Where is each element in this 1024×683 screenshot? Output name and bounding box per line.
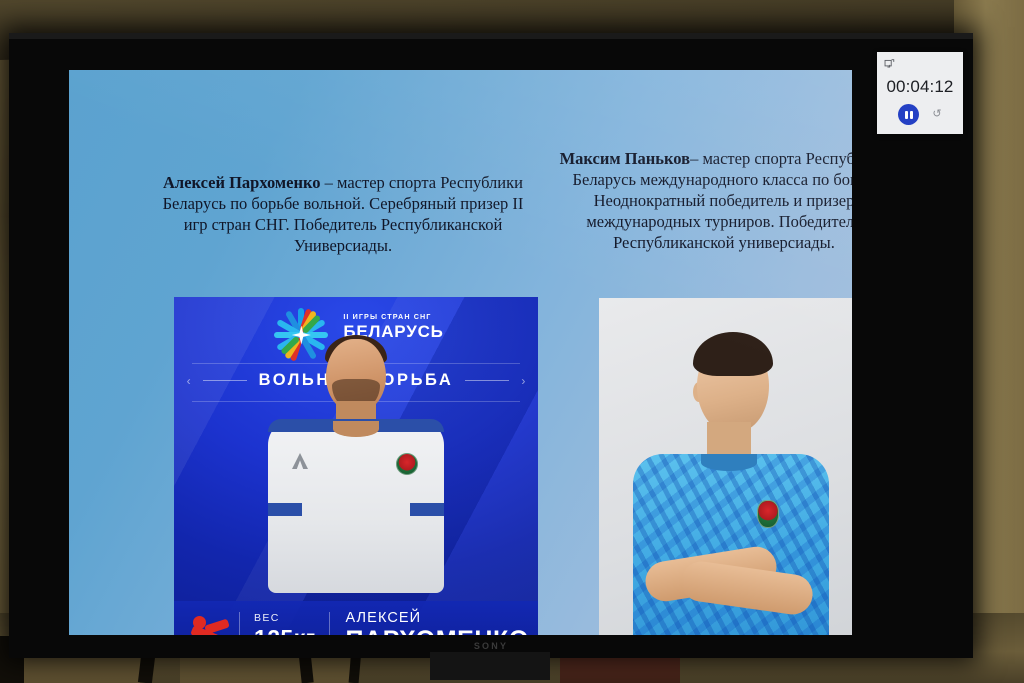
athlete-sleeve-left: [268, 503, 302, 516]
athlete-last-name: ПАРХОМЕНКО: [345, 627, 528, 635]
athlete-card-left[interactable]: II ИГРЫ СТРАН СНГ БЕЛАРУСЬ 2023 ‹ ВОЛЬНА…: [174, 297, 538, 635]
caption-right: Максим Паньков– мастер спорта Республики…: [559, 149, 852, 254]
pause-icon-bar-left: [905, 111, 908, 119]
screen-capture-icon[interactable]: [884, 58, 895, 69]
under-object-red: [560, 655, 680, 683]
pause-icon-bar-right: [910, 111, 913, 119]
tv-bezel-top: [9, 33, 973, 39]
weight-label: ВЕС: [254, 612, 315, 624]
athlete-sleeve-right: [410, 503, 444, 516]
portrait-shirt-collar: [701, 454, 757, 471]
athlete-first-name: АЛЕКСЕЙ: [345, 611, 528, 626]
athlete-weight: ВЕС 125кг: [240, 612, 329, 635]
presentation-slide[interactable]: Алексей Пархоменко – мастер спорта Респу…: [69, 70, 852, 635]
caption-left: Алексей Пархоменко – мастер спорта Респу…: [157, 173, 529, 257]
athlete-photo-left: [174, 335, 538, 603]
games-logo-kicker: II ИГРЫ СТРАН СНГ: [343, 313, 443, 320]
athlete-jersey-neckline: [333, 421, 379, 437]
timer-value: 00:04:12: [877, 77, 963, 97]
athlete-portrait-right[interactable]: [599, 298, 852, 635]
timer-widget[interactable]: 00:04:12 ↺: [877, 52, 963, 134]
timer-controls: ↺: [877, 104, 963, 125]
athlete-name: АЛЕКСЕЙ ПАРХОМЕНКО: [330, 611, 528, 635]
tv-stand-neck: [430, 652, 550, 680]
reset-icon[interactable]: ↺: [932, 109, 941, 120]
screenshot-stage: SONY Алексей Пархоменко – мастер спорта …: [0, 0, 1024, 683]
tv-brand-logo: SONY: [474, 641, 508, 651]
wrestling-pictogram-icon: [183, 610, 239, 635]
pause-button[interactable]: [898, 104, 919, 125]
portrait-hair: [693, 332, 773, 376]
belarus-coat-of-arms-icon: [396, 453, 418, 475]
caption-left-name: Алексей Пархоменко: [163, 173, 321, 192]
weight-value: 125кг: [254, 625, 315, 635]
athlete-name-plate: ВЕС 125кг АЛЕКСЕЙ ПАРХОМЕНКО: [174, 601, 538, 635]
caption-right-name: Максим Паньков: [560, 149, 690, 168]
portrait-team-emblem-icon: [757, 500, 779, 528]
